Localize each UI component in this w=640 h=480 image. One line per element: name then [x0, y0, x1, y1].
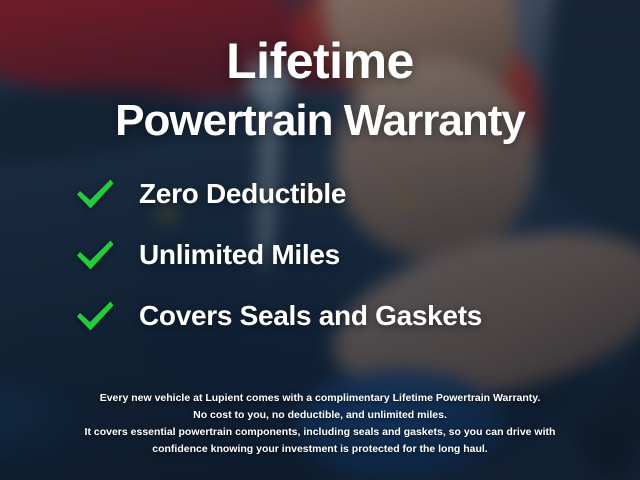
- banner-content: Lifetime Powertrain Warranty Zero Deduct…: [0, 0, 640, 480]
- green-check-icon: [74, 299, 116, 333]
- body-copy-line-2: No cost to you, no deductible, and unlim…: [34, 407, 606, 424]
- feature-label: Zero Deductible: [139, 178, 346, 210]
- warranty-banner: Lifetime Powertrain Warranty Zero Deduct…: [0, 0, 640, 480]
- feature-item-covers-seals-and-gaskets: Covers Seals and Gaskets: [74, 299, 640, 333]
- body-copy-line-1: Every new vehicle at Lupient comes with …: [34, 390, 606, 407]
- feature-item-zero-deductible: Zero Deductible: [74, 177, 640, 211]
- feature-item-unlimited-miles: Unlimited Miles: [74, 238, 640, 272]
- body-copy-line-3: It covers essential powertrain component…: [34, 424, 606, 441]
- green-check-icon: [74, 177, 116, 211]
- body-copy: Every new vehicle at Lupient comes with …: [0, 390, 640, 458]
- feature-label: Unlimited Miles: [139, 239, 340, 271]
- headline-line-2: Powertrain Warranty: [0, 99, 640, 143]
- feature-list: Zero Deductible Unlimited Miles Covers S…: [0, 177, 640, 333]
- green-check-icon: [74, 238, 116, 272]
- headline-line-1: Lifetime: [0, 36, 640, 86]
- feature-label: Covers Seals and Gaskets: [139, 300, 482, 332]
- headline: Lifetime Powertrain Warranty: [0, 0, 640, 143]
- body-copy-line-4: confidence knowing your investment is pr…: [34, 441, 606, 458]
